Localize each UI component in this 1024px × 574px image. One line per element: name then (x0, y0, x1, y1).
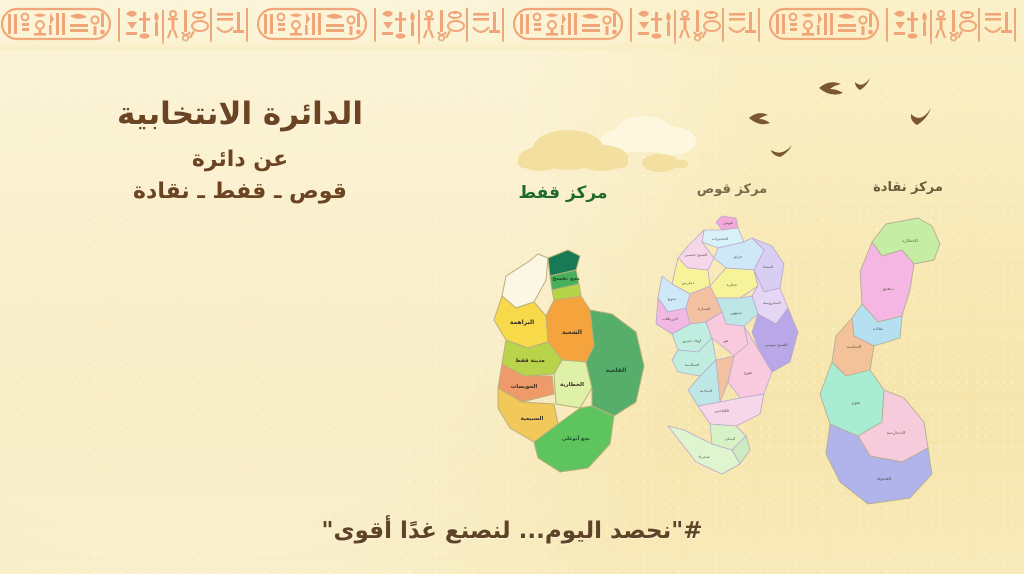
svg-text:الشعبة: الشعبة (562, 329, 582, 336)
svg-text:حجازة: حجازة (727, 283, 738, 287)
map-qift[interactable]: نجع تفسح البراهمة الشعبة مدينة قفط الحوي… (476, 236, 666, 494)
svg-text:الشيخ موسى: الشيخ موسى (764, 343, 787, 347)
map-qus[interactable]: قوص الحجيرات خزام المعنا الشيخ عيسى دمار… (648, 212, 816, 482)
band-fade (0, 38, 1024, 50)
map-label-naqada: مركز نقادة (848, 180, 968, 195)
svg-text:الكلاحين: الكلاحين (715, 409, 730, 413)
svg-text:شنهور: شنهور (729, 311, 742, 315)
hieroglyph-border (0, 0, 1024, 50)
svg-text:العمارة: العمارة (698, 307, 711, 311)
svg-text:الخطارة: الخطارة (902, 238, 918, 243)
svg-text:الشيخ عيسى: الشيخ عيسى (685, 253, 708, 257)
flying-birds (735, 70, 965, 175)
svg-text:القمولة: القمولة (877, 476, 892, 481)
svg-text:قوص: قوص (723, 221, 733, 225)
svg-text:طوخ: طوخ (744, 371, 753, 375)
svg-text:البراهمة: البراهمة (510, 319, 534, 326)
subtitle-line-1: عن دائرة (40, 146, 440, 175)
svg-text:الخطارية: الخطارية (560, 382, 584, 388)
svg-text:كيمان: كيمان (725, 437, 736, 441)
cloud-cluster (496, 108, 726, 188)
svg-text:الحجارسة: الحجارسة (887, 430, 906, 435)
svg-text:مدينة قفط: مدينة قفط (515, 358, 545, 364)
svg-text:أولاد عمرو: أولاد عمرو (682, 338, 702, 343)
svg-text:السبيعية: السبيعية (521, 416, 544, 422)
svg-text:طوخ: طوخ (851, 400, 860, 405)
map-naqada[interactable]: الخطارة دنفيق نقادة العتامنة طوخ الحجارس… (806, 212, 966, 512)
page-title: الدائرة الانتخابية (40, 96, 440, 134)
svg-text:البيادية: البيادية (700, 389, 712, 393)
svg-text:نجع تفسح: نجع تفسح (552, 276, 579, 282)
svg-text:نقادة: نقادة (873, 326, 884, 331)
headings-block: الدائرة الانتخابية عن دائرة قوص ـ قفط ـ … (40, 96, 440, 207)
svg-text:صحراء: صحراء (698, 455, 710, 459)
svg-text:العتامنة: العتامنة (847, 344, 862, 349)
slogan-text: #"نحصد اليوم... لنصنع غدًا أقوى" (0, 518, 1024, 544)
svg-text:نجع أبوعلي: نجع أبوعلي (562, 435, 590, 442)
subtitle-line-2: قوص ـ قفط ـ نقادة (40, 178, 440, 207)
svg-text:الحجيرات: الحجيرات (712, 237, 728, 241)
slide-canvas: الدائرة الانتخابية عن دائرة قوص ـ قفط ـ … (0, 0, 1024, 574)
svg-text:الرزيقات: الرزيقات (662, 317, 678, 321)
svg-text:المحروسة: المحروسة (763, 301, 781, 305)
svg-text:الحويصات: الحويصات (511, 384, 538, 390)
svg-text:خزام: خزام (734, 255, 743, 259)
map-label-qus: مركز قوص (672, 182, 792, 197)
svg-text:المعنا: المعنا (763, 265, 773, 269)
svg-text:هو: هو (723, 339, 729, 343)
svg-text:دمارس: دمارس (682, 281, 695, 285)
map-label-qift: مركز قفط (498, 183, 628, 203)
svg-text:القلعية: القلعية (606, 367, 627, 374)
svg-text:السلامية: السلامية (685, 363, 700, 367)
svg-text:نجوع: نجوع (668, 297, 677, 301)
svg-text:دنفيق: دنفيق (882, 286, 894, 291)
